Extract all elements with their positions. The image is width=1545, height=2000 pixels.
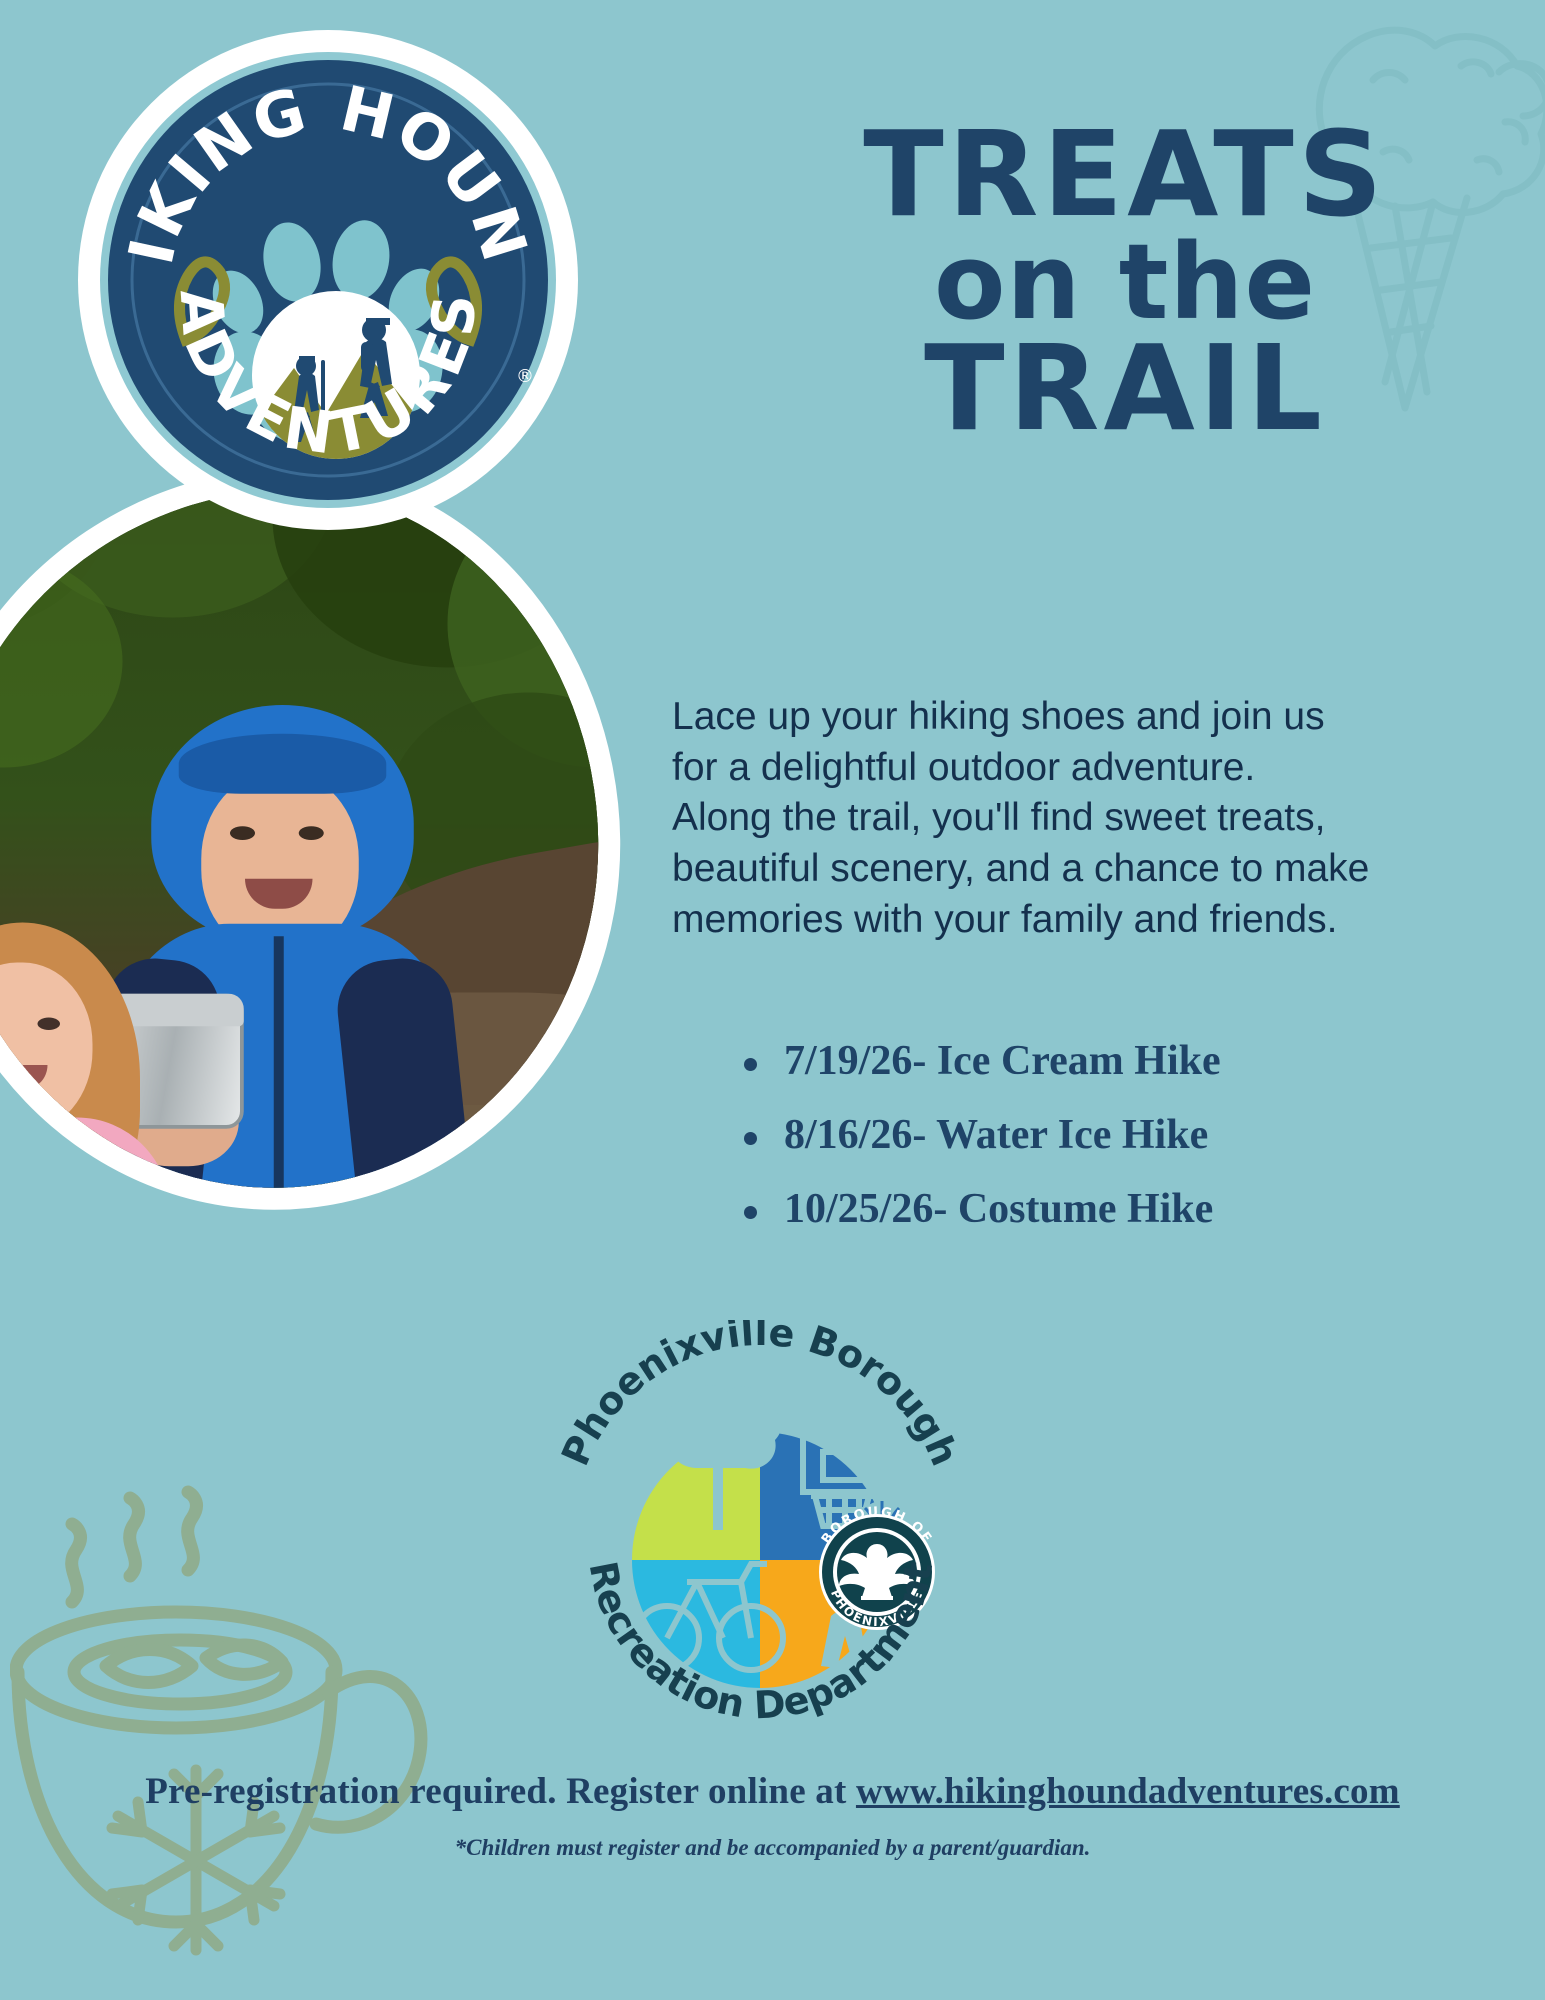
- description-text: Lace up your hiking shoes and join us fo…: [672, 692, 1492, 945]
- phoenixville-borough-recreation-logo: BOROUGH OF PHOENIXVILLE Phoenixville Bor…: [545, 1320, 975, 1720]
- description-line: beautiful scenery, and a chance to make: [672, 844, 1492, 895]
- registration-line: Pre-registration required. Register onli…: [0, 1770, 1545, 1813]
- description-line: for a delightful outdoor adventure.: [672, 743, 1492, 794]
- registration-url-link[interactable]: www.hikinghoundadventures.com: [856, 1771, 1400, 1812]
- description-line: memories with your family and friends.: [672, 895, 1492, 946]
- description-line: Along the trail, you'll find sweet treat…: [672, 793, 1492, 844]
- title-line-1: TREATS: [755, 120, 1495, 229]
- photo-children-on-trail: [0, 460, 633, 1221]
- list-item: 10/25/26- Costume Hike: [740, 1188, 1500, 1230]
- list-item: 7/19/26- Ice Cream Hike: [740, 1040, 1500, 1082]
- hero-photo: [0, 470, 620, 1210]
- hiking-hound-logo: HIKING HOUND ADVENTURES ®: [78, 30, 578, 530]
- badge-trademark: ®: [516, 366, 534, 387]
- badge-artwork: HIKING HOUND ADVENTURES ®: [78, 30, 578, 530]
- coffee-mug-icon: [10, 1480, 430, 1960]
- list-item: 8/16/26- Water Ice Hike: [740, 1114, 1500, 1156]
- description-line: Lace up your hiking shoes and join us: [672, 692, 1492, 743]
- registration-note: *Children must register and be accompani…: [0, 1835, 1545, 1861]
- event-date-list: 7/19/26- Ice Cream Hike 8/16/26- Water I…: [740, 1040, 1500, 1262]
- title-line-3: TRAIL: [755, 334, 1495, 443]
- registration-prefix: Pre-registration required. Register onli…: [145, 1771, 856, 1812]
- title-line-2: on the: [755, 235, 1495, 331]
- page-title: TREATS on the TRAIL: [755, 120, 1495, 443]
- footer: Pre-registration required. Register onli…: [0, 1770, 1545, 1861]
